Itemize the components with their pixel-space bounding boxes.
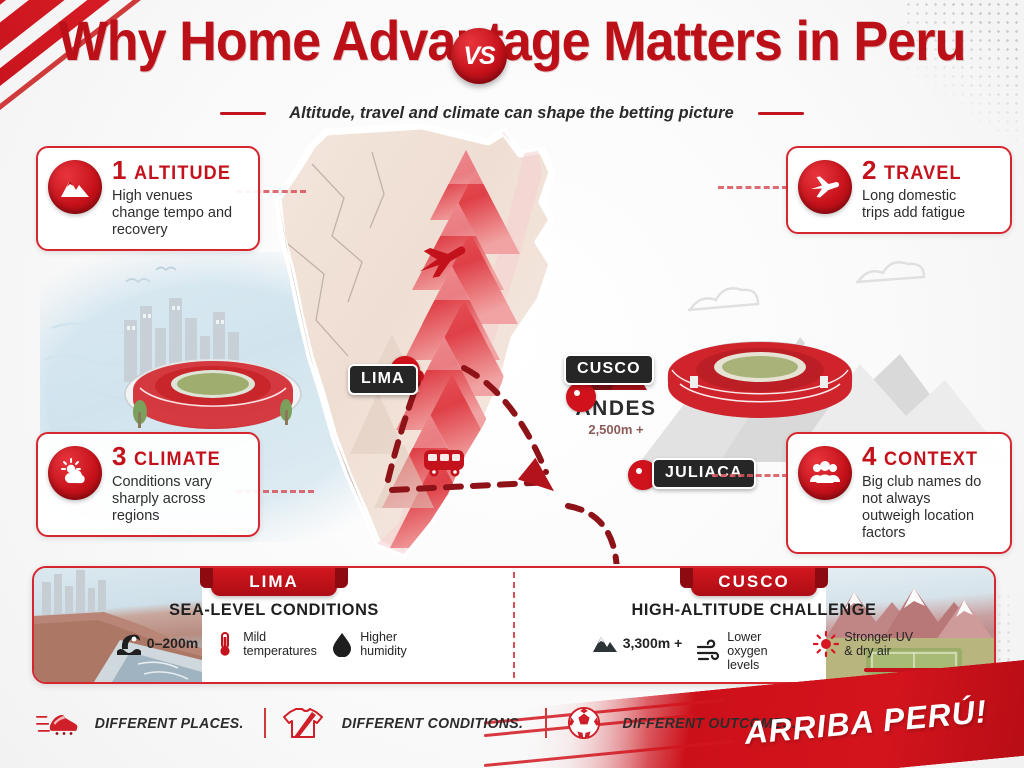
wind-icon (696, 638, 722, 664)
fact-text: Mild temperatures (243, 630, 315, 658)
cusco-stadium-illustration (660, 312, 860, 422)
water-drop-icon (329, 631, 355, 657)
thermometer-icon (212, 631, 238, 657)
card-title: TRAVEL (884, 163, 962, 185)
card-number: 2 (862, 157, 876, 183)
footer-item-places: DIFFERENT PLACES. (36, 706, 248, 740)
card-title: CONTEXT (884, 449, 978, 471)
fact-sea-level: 0–200m (116, 630, 198, 656)
fact-text: Higher humidity (360, 630, 432, 658)
wave-icon (116, 630, 142, 656)
fact-text: Stronger UV & dry air (844, 630, 916, 658)
jersey-icon (282, 706, 324, 740)
cusco-subtitle: HIGH-ALTITUDE CHALLENGE (524, 600, 985, 620)
peru-map-shape (252, 124, 672, 564)
page-subtitle: Altitude, travel and climate can shape t… (290, 103, 734, 123)
footer-bar: DIFFERENT PLACES. DIFFERENT CONDITIONS. (0, 690, 1024, 768)
comparison-panel: LIMA SEA-LEVEL CONDITIONS 0–200m (32, 566, 996, 684)
fact-altitude: 3,300m + (592, 630, 683, 656)
fact-oxygen: Lower oxygen levels (696, 630, 799, 672)
card-description: Big club names do not always outweigh lo… (862, 474, 987, 542)
card-number: 4 (862, 443, 876, 469)
airplane-icon (798, 160, 852, 214)
vs-badge: VS (451, 28, 507, 84)
mountain-icon (592, 630, 618, 656)
page-title: Why Home Advantage Matters in Peru (36, 12, 988, 70)
airplane-route-icon (414, 242, 470, 282)
andes-altitude: 2,500m + (556, 422, 676, 437)
ribbon-cusco: CUSCO (691, 568, 817, 596)
comparison-divider (513, 572, 515, 678)
card-number: 3 (112, 443, 126, 469)
lima-subtitle: SEA-LEVEL CONDITIONS (44, 600, 505, 620)
map-pin-cusco[interactable] (566, 382, 596, 412)
info-card-context[interactable]: 4 CONTEXT Big club names do not always o… (786, 432, 1012, 554)
map-label-lima[interactable]: LIMA (348, 364, 418, 395)
fact-mild-temp: Mild temperatures (212, 630, 315, 658)
connector-card4 (712, 474, 788, 477)
fact-text: Lower oxygen levels (727, 630, 799, 672)
subtitle-rule-left (220, 112, 266, 115)
subtitle-row: Altitude, travel and climate can shape t… (0, 103, 1024, 123)
card-title: ALTITUDE (134, 163, 231, 185)
comparison-lima: LIMA SEA-LEVEL CONDITIONS 0–200m (34, 568, 514, 682)
info-card-altitude[interactable]: 1 ALTITUDE High venues change tempo and … (36, 146, 260, 251)
card-description: High venues change tempo and recovery (112, 188, 237, 239)
sun-cloud-icon (48, 446, 102, 500)
map-label-cusco[interactable]: CUSCO (564, 354, 654, 385)
card-description: Conditions vary sharply across regions (112, 474, 237, 525)
footer-text: DIFFERENT PLACES. (95, 715, 244, 732)
card-description: Long domestic trips add fatigue (862, 188, 987, 222)
comparison-cusco: CUSCO HIGH-ALTITUDE CHALLENGE 3,300m + (514, 568, 994, 682)
infographic-root: Why Home Advantage Matters in Peru Altit… (0, 0, 1024, 768)
lima-coast-photo (34, 568, 202, 682)
fact-text: 0–200m (147, 636, 198, 650)
people-icon (798, 446, 852, 500)
footer-items: DIFFERENT PLACES. DIFFERENT CONDITIONS. (36, 706, 802, 740)
info-card-climate[interactable]: 3 CLIMATE Conditions vary sharply across… (36, 432, 260, 537)
footer-separator (264, 708, 266, 738)
bus-route-icon (420, 444, 470, 480)
mountain-icon (48, 160, 102, 214)
cusco-facts: 3,300m + Lower oxygen levels (514, 630, 994, 672)
football-boot-icon (36, 706, 78, 740)
ribbon-lima: LIMA (211, 568, 337, 596)
footer-item-conditions: DIFFERENT CONDITIONS. (282, 706, 529, 740)
footer-text: DIFFERENT CONDITIONS. (342, 715, 523, 732)
footer-separator (545, 708, 547, 738)
sun-icon (813, 631, 839, 657)
fact-humidity: Higher humidity (329, 630, 432, 658)
connector-card2 (718, 186, 788, 189)
card-title: CLIMATE (134, 449, 221, 471)
info-card-travel[interactable]: 2 TRAVEL Long domestic trips add fatigue (786, 146, 1012, 234)
card-number: 1 (112, 157, 126, 183)
soccer-ball-icon (563, 706, 605, 740)
lima-facts: 0–200m Mild temperatures Higher humidity (34, 630, 514, 658)
fact-text: 3,300m + (623, 636, 683, 650)
subtitle-rule-right (758, 112, 804, 115)
fact-uv: Stronger UV & dry air (813, 630, 916, 658)
